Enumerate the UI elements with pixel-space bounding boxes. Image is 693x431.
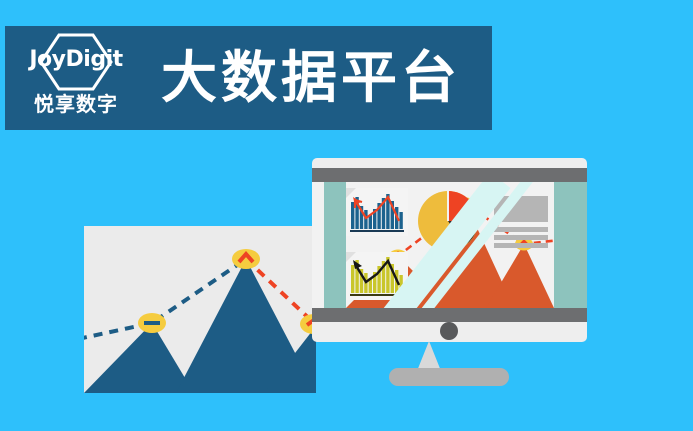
monitor-display [312, 158, 587, 342]
monitor-screen [312, 182, 587, 308]
header-banner: JoyDigit 悦享数字 大数据平台 [5, 26, 492, 130]
card-fold-corner [346, 252, 356, 262]
page-title: 大数据平台 [161, 50, 461, 106]
monitor-base [389, 368, 509, 386]
logo-subtitle: 悦享数字 [17, 95, 135, 115]
text-block-line [494, 235, 548, 240]
poster-canvas: JoyDigit 悦享数字 大数据平台 [0, 0, 693, 431]
monitor-power-indicator[interactable] [440, 322, 458, 340]
monitor-top-bar [312, 168, 587, 182]
widget-bar-chart-blue[interactable] [346, 188, 408, 236]
brand-logo: JoyDigit 悦享数字 [17, 31, 135, 125]
screen-accent-right [554, 182, 587, 308]
left-mountain-svg [84, 226, 316, 393]
text-block-line [494, 243, 548, 248]
screen-accent-left [324, 182, 346, 308]
text-block-line [494, 227, 548, 232]
card-fold-corner [346, 188, 356, 198]
monitor-stand-neck [417, 341, 441, 371]
monitor-bottom-bar [312, 308, 587, 322]
logo-wordmark: JoyDigit [17, 49, 135, 71]
axis-line [350, 230, 404, 232]
left-mountain-chart [84, 226, 316, 393]
